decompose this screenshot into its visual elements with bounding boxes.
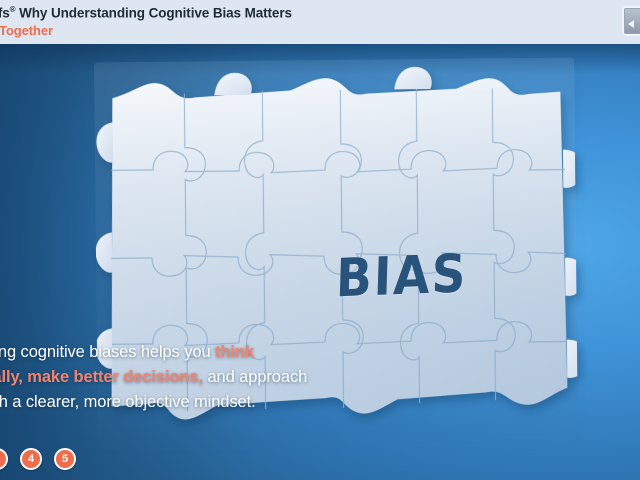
caption-line-2: e critically, make better decisions, and… (0, 365, 410, 390)
slide-caption: erstanding cognitive biases helps you th… (0, 340, 410, 415)
page-header: Briefs® Why Understanding Cognitive Bias… (0, 0, 640, 44)
pagination-item-4[interactable]: 4 (20, 448, 42, 470)
caption-text-1: erstanding cognitive biases helps you (0, 343, 215, 361)
page-title: Briefs® Why Understanding Cognitive Bias… (0, 5, 292, 21)
caption-line-3: tions with a clearer, more objective min… (0, 390, 410, 415)
caption-line-1: erstanding cognitive biases helps you th… (0, 340, 410, 365)
caption-highlight-1: think (215, 343, 254, 361)
caption-text-2: and approach (203, 368, 307, 386)
slide-image: BIAS erstanding cognitive biases helps y… (0, 44, 640, 480)
page-title-brand: Briefs (0, 6, 10, 21)
caption-text-3: tions with a clearer, more objective min… (0, 393, 256, 411)
play-button[interactable] (624, 8, 640, 34)
play-triangle-icon (628, 20, 634, 28)
page-title-rest: Why Understanding Cognitive Bias Matters (15, 6, 291, 21)
pagination-item-5[interactable]: 5 (54, 448, 76, 470)
pagination-item-3[interactable]: 3 (0, 448, 8, 470)
caption-highlight-2: e critically, make better decisions, (0, 368, 203, 386)
page-subtitle: t All Together (0, 23, 53, 38)
bias-handwritten-text: BIAS (335, 243, 468, 310)
pagination[interactable]: 3 4 5 (0, 448, 76, 470)
